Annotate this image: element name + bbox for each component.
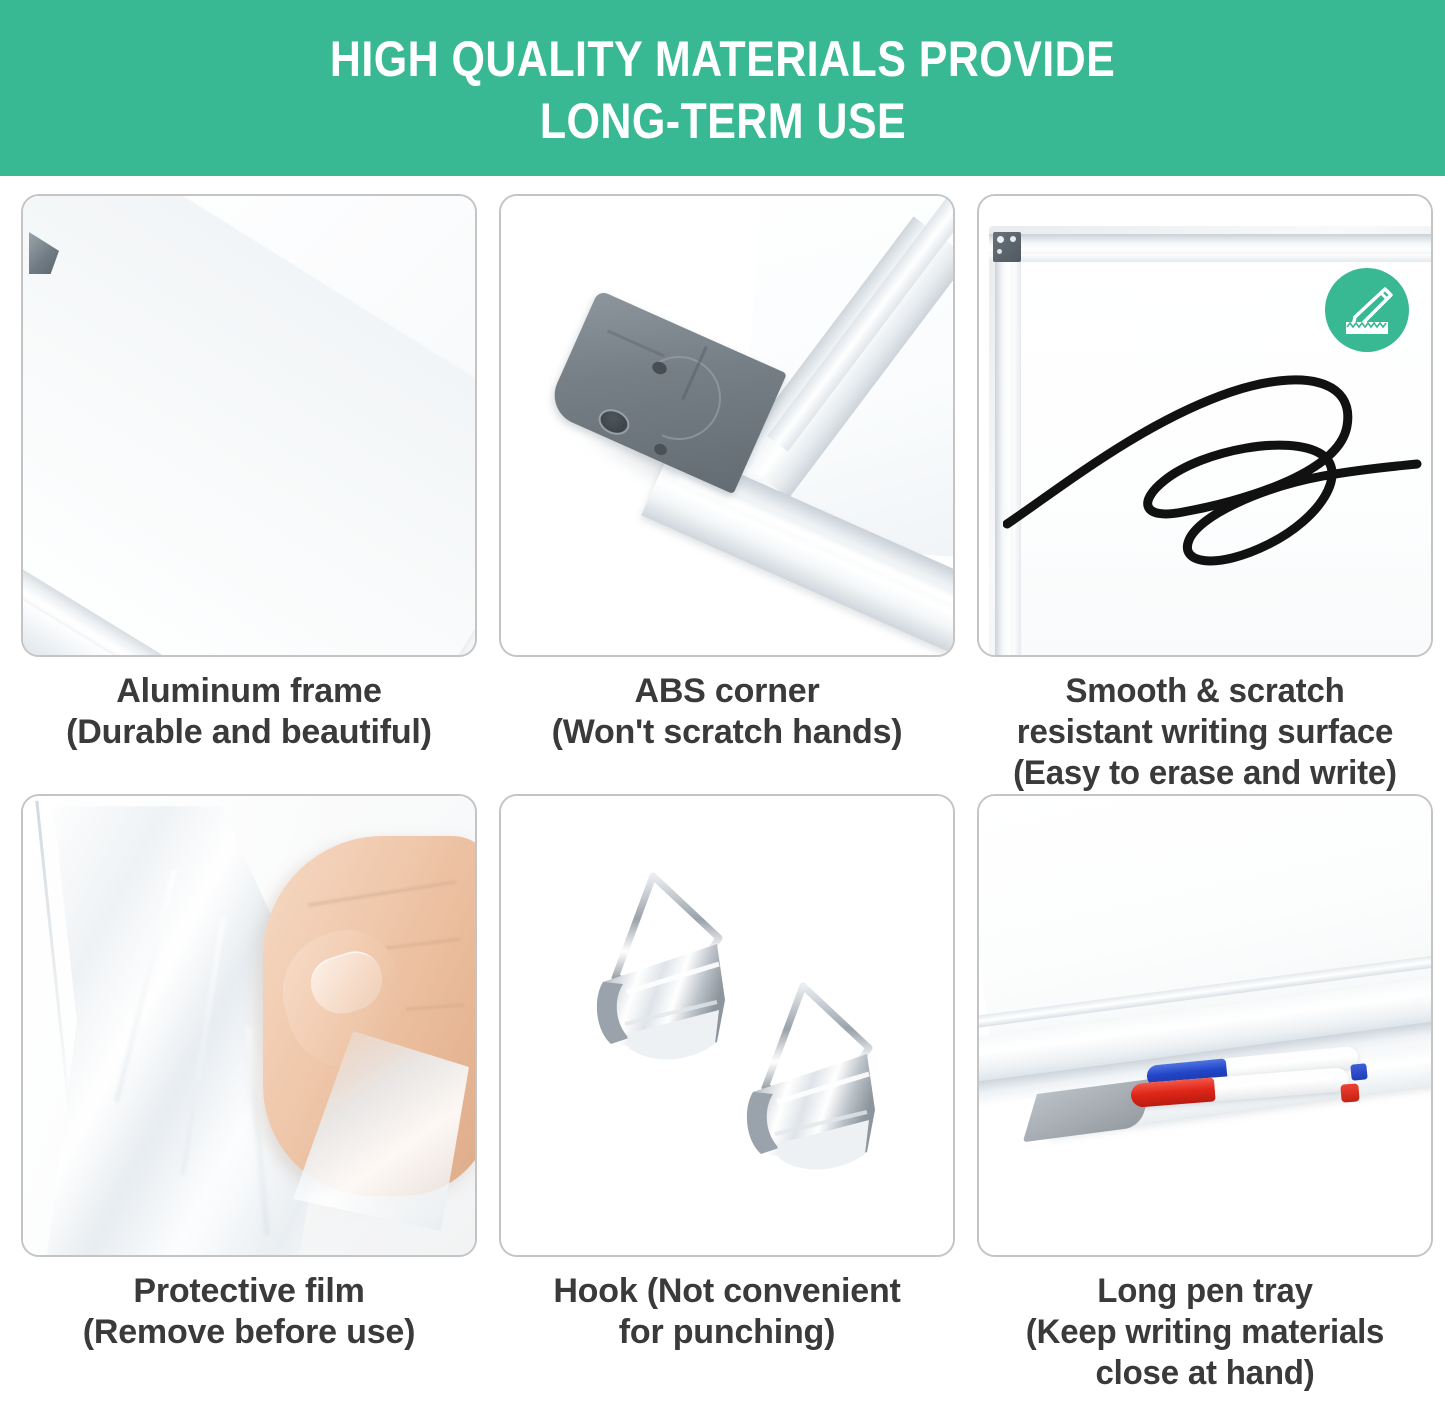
aluminum-frame-photo <box>21 194 477 657</box>
feature-card-aluminum-frame: Aluminum frame (Durable and beautiful) <box>14 194 484 794</box>
feature-card-abs-corner: ABS corner (Won't scratch hands) <box>492 194 962 794</box>
caption-hook: Hook (Not convenient for punching) <box>492 1271 962 1353</box>
caption-line: close at hand) <box>977 1353 1433 1394</box>
marker-red-end <box>1340 1083 1359 1102</box>
caption-line: Long pen tray <box>977 1271 1433 1312</box>
header-banner: HIGH QUALITY MATERIALS PROVIDE LONG-TERM… <box>0 0 1445 176</box>
bracket-hole-icon <box>997 249 1002 254</box>
caption-line: (Remove before use) <box>14 1312 484 1353</box>
feature-card-writing-surface: Smooth & scratch resistant writing surfa… <box>970 194 1440 794</box>
caption-line: resistant writing surface <box>977 712 1433 753</box>
caption-line: Protective film <box>14 1271 484 1312</box>
banner-headline-line-1: HIGH QUALITY MATERIALS PROVIDE <box>330 28 1115 90</box>
abs-corner-photo <box>499 194 955 657</box>
writing-surface-photo <box>977 194 1433 657</box>
caption-line: (Easy to erase and write) <box>977 753 1433 794</box>
caption-line: Hook (Not convenient <box>492 1271 962 1312</box>
marker-blue-end <box>1350 1063 1367 1080</box>
hook-icon <box>717 962 947 1212</box>
caption-abs-corner: ABS corner (Won't scratch hands) <box>492 671 962 753</box>
feature-card-hook: Hook (Not convenient for punching) <box>492 794 962 1394</box>
banner-headline-line-2: LONG-TERM USE <box>539 90 905 152</box>
scratch-resistant-badge <box>1325 268 1409 352</box>
caption-line: (Keep writing materials <box>977 1312 1433 1353</box>
bracket-hole-icon <box>997 236 1004 243</box>
caption-line: (Durable and beautiful) <box>14 712 484 753</box>
feature-card-pen-tray: Long pen tray (Keep writing materials cl… <box>970 794 1440 1394</box>
caption-line: Aluminum frame <box>14 671 484 712</box>
caption-line: for punching) <box>492 1312 962 1353</box>
caption-line: Smooth & scratch <box>977 671 1433 712</box>
caption-protective-film: Protective film (Remove before use) <box>14 1271 484 1353</box>
feature-card-protective-film: Protective film (Remove before use) <box>14 794 484 1394</box>
caption-pen-tray: Long pen tray (Keep writing materials cl… <box>977 1271 1433 1394</box>
protective-film-photo <box>21 794 477 1257</box>
caption-line: ABS corner <box>492 671 962 712</box>
caption-writing-surface: Smooth & scratch resistant writing surfa… <box>977 671 1433 794</box>
marker-scribble <box>1003 326 1423 626</box>
caption-aluminum-frame: Aluminum frame (Durable and beautiful) <box>14 671 484 753</box>
pen-tray-photo <box>977 794 1433 1257</box>
caption-line: (Won't scratch hands) <box>492 712 962 753</box>
hanging-hooks-photo <box>499 794 955 1257</box>
frame-rail-top-highlight <box>989 254 1433 262</box>
bracket-hole-icon <box>1010 236 1016 242</box>
feature-grid: Aluminum frame (Durable and beautiful) A… <box>0 176 1445 1394</box>
marker-on-surface-icon <box>1338 281 1396 339</box>
